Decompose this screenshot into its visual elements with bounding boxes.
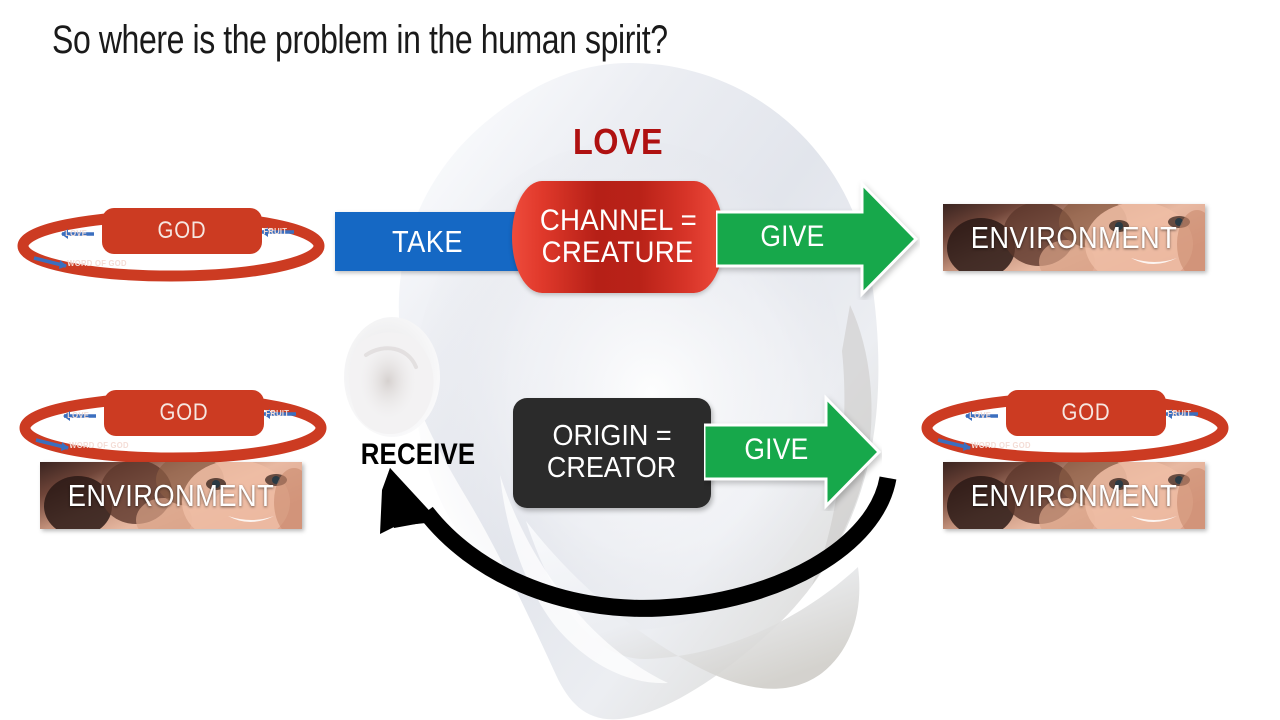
god-fruit-label: FRUIT [265, 408, 289, 418]
environment-label: ENVIRONMENT [959, 220, 1190, 256]
environment-top-right: ENVIRONMENT [943, 204, 1205, 271]
ear-shape [344, 317, 440, 437]
origin-line-2: CREATOR [547, 453, 676, 485]
slide-canvas: So where is the problem in the human spi… [0, 0, 1280, 720]
god-badge-top-left: GOD LOVE FRUIT WORD OF GOD [16, 196, 326, 284]
take-label: TAKE [346, 212, 509, 271]
channel-creature-cylinder: CHANNEL = CREATURE [512, 181, 724, 293]
god-label: GOD [1018, 390, 1154, 436]
environment-label: ENVIRONMENT [959, 478, 1190, 514]
give-arrow-bottom: GIVE [704, 393, 882, 511]
environment-bottom-right: ENVIRONMENT [943, 462, 1205, 529]
god-label: GOD [114, 208, 250, 254]
channel-line-1: CHANNEL = [539, 205, 696, 237]
god-word-label: WORD OF GOD [971, 440, 1030, 450]
give-label-bottom: GIVE [744, 433, 808, 467]
origin-creator-box: ORIGIN = CREATOR [513, 398, 711, 508]
god-love-label: LOVE [65, 228, 87, 238]
channel-line-2: CREATURE [542, 237, 694, 269]
environment-label: ENVIRONMENT [56, 478, 287, 514]
god-love-label: LOVE [67, 410, 89, 420]
god-word-label: WORD OF GOD [67, 258, 126, 268]
take-bar: TAKE [335, 212, 520, 271]
give-label-top: GIVE [760, 220, 824, 254]
origin-line-1: ORIGIN = [552, 421, 671, 453]
god-fruit-label: FRUIT [1167, 408, 1191, 418]
god-love-label: LOVE [969, 410, 991, 420]
page-title: So where is the problem in the human spi… [52, 18, 668, 63]
receive-label: RECEIVE [358, 438, 478, 472]
god-badge-bottom-left: GOD LOVE FRUIT WORD OF GOD [18, 378, 328, 466]
god-fruit-label: FRUIT [263, 226, 287, 236]
god-label: GOD [116, 390, 252, 436]
god-badge-bottom-right: GOD LOVE FRUIT WORD OF GOD [920, 378, 1230, 466]
god-word-label: WORD OF GOD [69, 440, 128, 450]
environment-bottom-left: ENVIRONMENT [40, 462, 302, 529]
give-arrow-top: GIVE [716, 178, 920, 300]
love-label: LOVE [523, 121, 714, 163]
